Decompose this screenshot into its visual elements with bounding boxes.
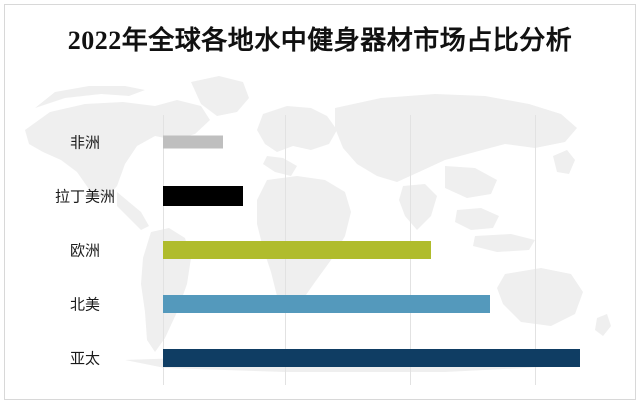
bar-row: 欧洲 xyxy=(163,223,535,277)
page-title: 2022年全球各地水中健身器材市场占比分析 xyxy=(0,20,640,57)
category-label-latin-america: 拉丁美洲 xyxy=(20,186,150,207)
plot-area: 非洲 拉丁美洲 欧洲 北美 亚太 xyxy=(163,115,535,385)
bar-asia-pacific xyxy=(163,349,580,367)
gridline-3 xyxy=(535,115,536,385)
category-label-asia-pacific: 亚太 xyxy=(20,348,150,369)
bar-row: 非洲 xyxy=(163,115,535,169)
bar-north-america xyxy=(163,295,490,313)
bar-africa xyxy=(163,136,223,149)
chart-figure: 2022年全球各地水中健身器材市场占比分析 非洲 拉丁美洲 欧洲 北美 亚太 xyxy=(0,0,640,420)
bar-latin-america xyxy=(163,186,243,206)
bar-row: 北美 xyxy=(163,277,535,331)
bar-europe xyxy=(163,241,431,259)
bar-row: 拉丁美洲 xyxy=(163,169,535,223)
category-label-north-america: 北美 xyxy=(20,294,150,315)
bar-row: 亚太 xyxy=(163,331,535,385)
category-label-africa: 非洲 xyxy=(20,132,150,153)
category-label-europe: 欧洲 xyxy=(20,240,150,261)
